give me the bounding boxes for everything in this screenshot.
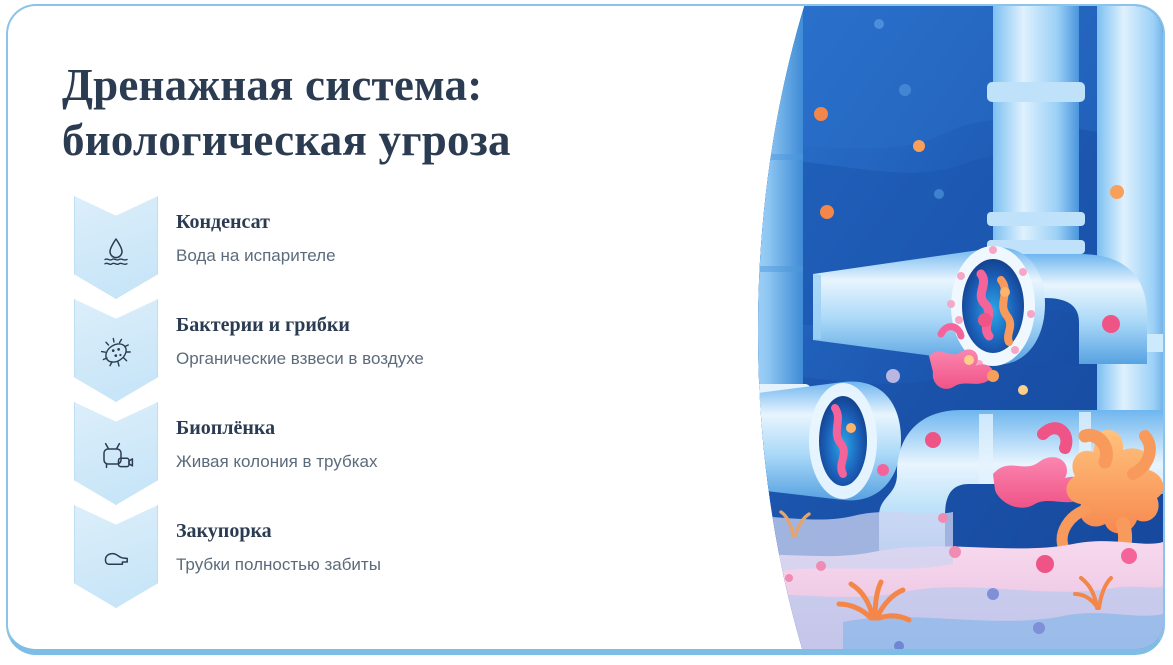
list-item[interactable]: Конденсат Вода на испарителе — [8, 192, 708, 295]
list-item-desc: Живая колония в трубках — [176, 451, 676, 472]
illustration-panel — [693, 6, 1163, 649]
list-item-desc: Вода на испарителе — [176, 245, 676, 266]
list-item-text: Закупорка Трубки полностью забиты — [176, 519, 676, 575]
icon-badge-bacteria — [74, 299, 158, 402]
list-item[interactable]: Биоплёнка Живая колония в трубках — [8, 398, 708, 501]
list-item-text: Конденсат Вода на испарителе — [176, 210, 676, 266]
icon-badge-biofilm — [74, 402, 158, 505]
list-item-title: Закупорка — [176, 519, 676, 543]
list-item-text: Бактерии и грибки Органические взвеси в … — [176, 313, 676, 369]
page-title-line-1: Дренажная система: — [62, 58, 662, 113]
page-title-line-2: биологическая угроза — [62, 113, 662, 168]
clogged-drain-pipes-underwater-illustration — [693, 6, 1163, 649]
clog-blockage-icon — [96, 539, 136, 579]
list-item[interactable]: Закупорка Трубки полностью забиты — [8, 501, 708, 604]
slide-card: Дренажная система: биологическая угроза … — [6, 4, 1165, 655]
bacteria-icon — [96, 333, 136, 373]
icon-badge-condensate — [74, 196, 158, 299]
water-drop-waves-icon — [96, 230, 136, 270]
list-item[interactable]: Бактерии и грибки Органические взвеси в … — [8, 295, 708, 398]
list-item-title: Конденсат — [176, 210, 676, 234]
illustration-clip — [693, 6, 1163, 649]
list-item-text: Биоплёнка Живая колония в трубках — [176, 416, 676, 472]
content-column: Дренажная система: биологическая угроза … — [8, 6, 708, 649]
threat-list: Конденсат Вода на испарителе — [8, 192, 708, 604]
page-title: Дренажная система: биологическая угроза — [62, 58, 662, 168]
list-item-desc: Трубки полностью забиты — [176, 554, 676, 575]
list-item-desc: Органические взвеси в воздухе — [176, 348, 676, 369]
list-item-title: Бактерии и грибки — [176, 313, 676, 337]
biofilm-screen-icon — [96, 436, 136, 476]
list-item-title: Биоплёнка — [176, 416, 676, 440]
icon-badge-blockage — [74, 505, 158, 608]
